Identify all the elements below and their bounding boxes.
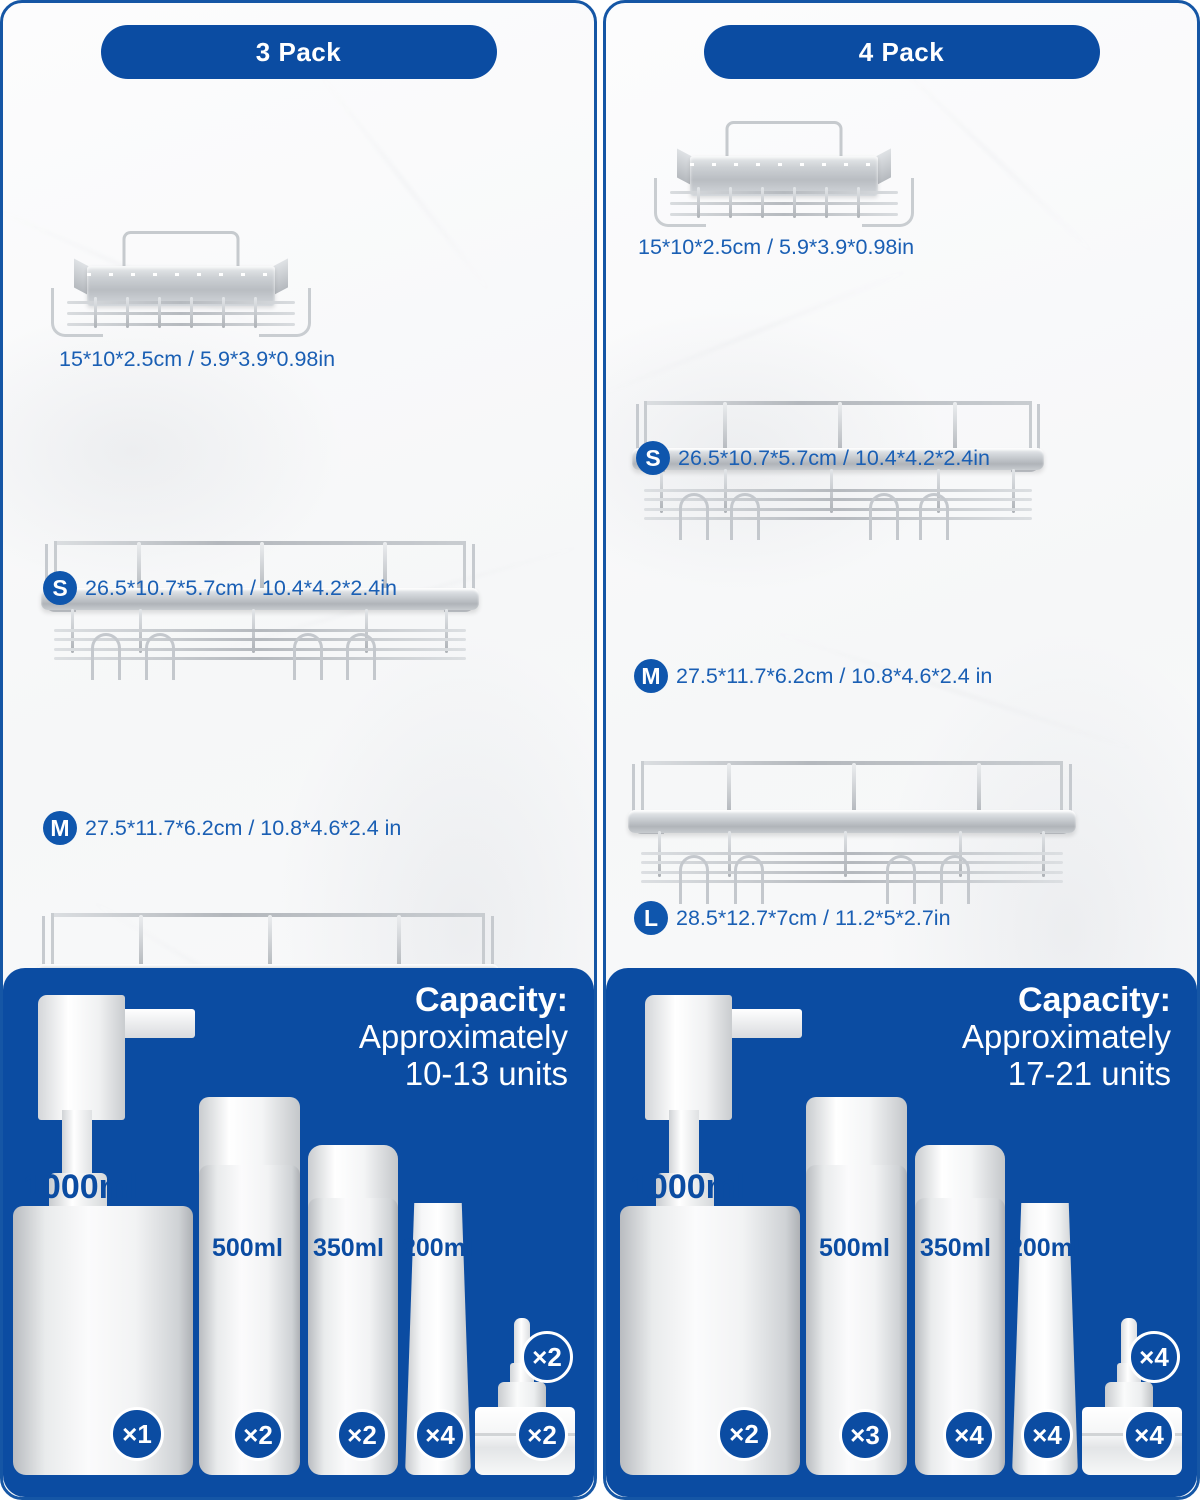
size-badge-l: L — [634, 901, 668, 935]
basket-front-rail — [628, 810, 1076, 833]
panel-three-pack: 3 Pack 15*10*2.5cm / 5.9*3.9*0.98in — [0, 0, 597, 1500]
size-badge-m: M — [43, 811, 77, 845]
dimension-caddy-4: 15*10*2.5cm / 5.9*3.9*0.98in — [638, 235, 914, 260]
pump-cap — [38, 995, 124, 1120]
qty-badge-tube: ×4 — [1021, 1409, 1073, 1461]
pack-title-pill-3: 3 Pack — [101, 25, 497, 79]
volume-label-350ml: 350ml — [920, 1234, 991, 1263]
caddy-arm-right — [862, 178, 914, 226]
qty-badge-round: ×2 — [336, 1409, 388, 1461]
capacity-label: Capacity: — [962, 982, 1171, 1019]
product-caddy-small — [654, 121, 914, 231]
qty-badge-tube: ×4 — [414, 1409, 466, 1461]
capacity-label: Capacity: — [359, 982, 568, 1019]
volume-label-1000ml: 1000ml — [630, 1168, 745, 1207]
capacity-line-2: Approximately — [359, 1019, 568, 1055]
dimension-text: 26.5*10.7*5.7cm / 10.4*4.2*2.4in — [85, 576, 397, 601]
dimension-basket-s-3: S 26.5*10.7*5.7cm / 10.4*4.2*2.4in — [43, 571, 397, 605]
pack-title-pill-4: 4 Pack — [704, 25, 1100, 79]
basket-hooks — [641, 855, 1062, 904]
caddy-arm-left — [654, 178, 706, 226]
dimension-text: 28.5*12.7*7cm / 11.2*5*2.7in — [676, 906, 951, 931]
dimension-basket-m-3: M 27.5*11.7*6.2cm / 10.8*4.6*2.4 in — [43, 811, 401, 845]
dimension-text: 15*10*2.5cm / 5.9*3.9*0.98in — [638, 235, 914, 260]
basket-hooks — [644, 493, 1031, 540]
pack-title-text: 3 Pack — [256, 37, 341, 68]
dimension-basket-l-4: L 28.5*12.7*7cm / 11.2*5*2.7in — [634, 901, 951, 935]
capacity-panel-3: Capacity: Approximately 10-13 units 1000… — [3, 968, 594, 1497]
pump-bottle-body — [13, 1206, 193, 1475]
dimension-text: 27.5*11.7*6.2cm / 10.8*4.6*2.4 in — [85, 816, 401, 841]
dimension-caddy-3: 15*10*2.5cm / 5.9*3.9*0.98in — [59, 347, 335, 372]
capacity-line-2: Approximately — [962, 1019, 1171, 1055]
item-pump-bottle — [620, 995, 800, 1475]
qty-badge-pump: ×1 — [110, 1407, 164, 1461]
item-pump-bottle — [13, 995, 193, 1475]
capacity-line-3: 10-13 units — [359, 1056, 568, 1092]
products-list-4: 15*10*2.5cm / 5.9*3.9*0.98in — [606, 3, 1197, 971]
caddy-arm-right — [259, 288, 311, 336]
caddy-arm-left — [51, 288, 103, 336]
capacity-text-block: Capacity: Approximately 10-13 units — [359, 982, 568, 1092]
product-caddy-small — [51, 231, 311, 341]
qty-badge-jar: ×4 — [1123, 1409, 1175, 1461]
qty-badge-round: ×4 — [943, 1409, 995, 1461]
capacity-text-block: Capacity: Approximately 17-21 units — [962, 982, 1171, 1092]
panel-four-pack: 4 Pack 15*10*2.5cm / 5.9*3.9*0.98in — [603, 0, 1200, 1500]
products-list-3: 15*10*2.5cm / 5.9*3.9*0.98in — [3, 3, 594, 971]
pack-title-text: 4 Pack — [859, 37, 944, 68]
qty-badge-serum: ×4 — [1128, 1331, 1180, 1383]
size-badge-s: S — [636, 441, 670, 475]
product-basket-m — [628, 755, 1076, 907]
dimension-text: 26.5*10.7*5.7cm / 10.4*4.2*2.4in — [678, 446, 990, 471]
size-badge-s: S — [43, 571, 77, 605]
volume-label-500ml: 500ml — [212, 1234, 283, 1263]
volume-label-200ml: 200ml — [1009, 1234, 1080, 1263]
volume-label-200ml: 200ml — [402, 1234, 473, 1263]
volume-label-350ml: 350ml — [313, 1234, 384, 1263]
basket-hooks — [54, 633, 466, 680]
qty-badge-serum: ×2 — [521, 1331, 573, 1383]
size-badge-m: M — [634, 659, 668, 693]
capacity-line-3: 17-21 units — [962, 1056, 1171, 1092]
product-spec-sheet: 3 Pack 15*10*2.5cm / 5.9*3.9*0.98in — [0, 0, 1200, 1500]
product-basket-s — [41, 535, 479, 683]
pump-bottle-body — [620, 1206, 800, 1475]
pump-cap — [645, 995, 731, 1120]
qty-badge-tall: ×2 — [232, 1409, 284, 1461]
dimension-basket-s-4: S 26.5*10.7*5.7cm / 10.4*4.2*2.4in — [636, 441, 990, 475]
capacity-panel-4: Capacity: Approximately 17-21 units 1000… — [606, 968, 1197, 1497]
qty-badge-pump: ×2 — [717, 1407, 771, 1461]
qty-badge-jar: ×2 — [516, 1409, 568, 1461]
dimension-text: 27.5*11.7*6.2cm / 10.8*4.6*2.4 in — [676, 664, 992, 689]
dimension-text: 15*10*2.5cm / 5.9*3.9*0.98in — [59, 347, 335, 372]
volume-label-500ml: 500ml — [819, 1234, 890, 1263]
volume-label-1000ml: 1000ml — [23, 1168, 138, 1207]
qty-badge-tall: ×3 — [839, 1409, 891, 1461]
dimension-basket-m-4: M 27.5*11.7*6.2cm / 10.8*4.6*2.4 in — [634, 659, 992, 693]
